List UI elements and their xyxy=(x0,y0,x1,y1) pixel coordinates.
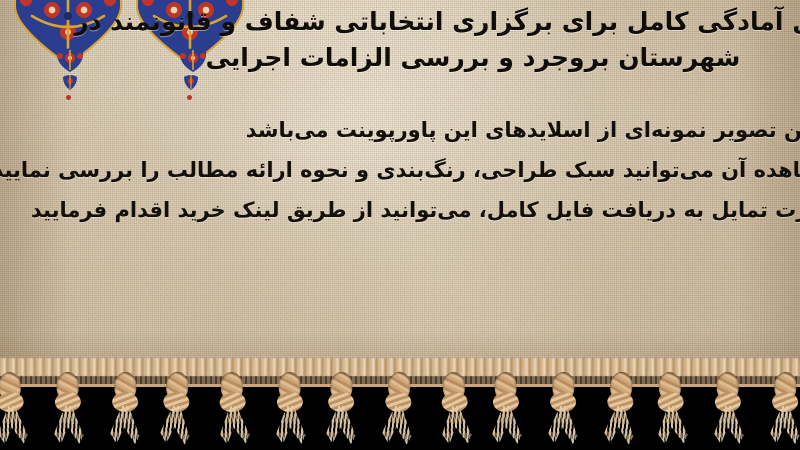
slide-text-layer: لیل آمادگی کامل برای برگزاری انتخاباتی ش… xyxy=(0,0,800,384)
tassel-threads xyxy=(218,405,250,445)
slide-canvas: لیل آمادگی کامل برای برگزاری انتخاباتی ش… xyxy=(0,0,800,450)
title-line-2: شهرستان بروجرد و بررسی الزامات اجرایی xyxy=(174,40,800,76)
tassel-threads xyxy=(491,406,522,445)
tassel-threads xyxy=(381,405,413,445)
tassel-threads xyxy=(325,406,356,445)
tassel xyxy=(0,369,42,448)
tassel xyxy=(264,369,319,446)
tassel-threads xyxy=(547,406,578,445)
slide-body: این تصویر نمونه‌ای از اسلایدهای این پاور… xyxy=(164,110,800,230)
carpet-background: لیل آمادگی کامل برای برگزاری انتخاباتی ش… xyxy=(0,0,800,384)
tassel xyxy=(593,369,651,448)
carpet-fringe xyxy=(0,362,800,450)
title-line-1: لیل آمادگی کامل برای برگزاری انتخاباتی ش… xyxy=(174,4,800,40)
tassel-threads xyxy=(713,406,744,445)
tassel-threads xyxy=(440,405,472,445)
tassel-threads xyxy=(109,406,140,445)
tassel-threads xyxy=(159,405,191,445)
tassel xyxy=(428,369,486,448)
tassel-threads xyxy=(603,405,635,445)
tassel xyxy=(42,369,97,446)
tassel xyxy=(537,369,592,446)
tassel-threads xyxy=(769,406,800,445)
body-line-3: در صورت تمایل به دریافت فایل کامل، می‌تو… xyxy=(164,190,800,230)
tassel xyxy=(206,369,264,448)
tassel xyxy=(702,369,757,446)
body-line-2: با مشاهده آن می‌توانید سبک طراحی، رنگ‌بن… xyxy=(164,150,800,190)
tassel xyxy=(99,369,154,446)
tassel-threads xyxy=(53,406,84,445)
tassel-threads xyxy=(275,406,306,445)
tassel xyxy=(644,369,702,448)
tassel xyxy=(371,369,429,448)
tassel-threads xyxy=(656,405,688,445)
tassel xyxy=(480,369,535,446)
tassel xyxy=(759,369,800,446)
slide-title: لیل آمادگی کامل برای برگزاری انتخاباتی ش… xyxy=(174,4,800,76)
body-line-1: این تصویر نمونه‌ای از اسلایدهای این پاور… xyxy=(164,110,800,150)
tassel xyxy=(149,369,207,448)
tassel xyxy=(315,369,370,446)
